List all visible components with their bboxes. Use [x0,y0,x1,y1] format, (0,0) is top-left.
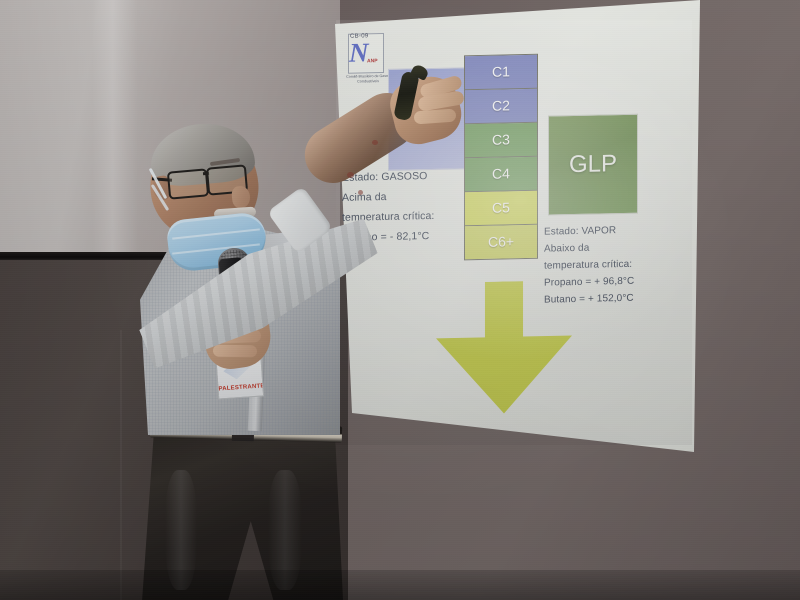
photo-scene: CB-09 N ANP Comitê Brasileiro de Gases C… [0,0,800,600]
skin-mark [358,190,363,195]
badge-role-text: PALESTRANTE [218,383,262,392]
presenter: CB PALESTRANTE [0,0,800,600]
floor-shadow-band [0,570,800,600]
skin-mark [372,140,378,145]
lower-hand-finger [213,345,257,358]
skin-mark [347,172,354,178]
